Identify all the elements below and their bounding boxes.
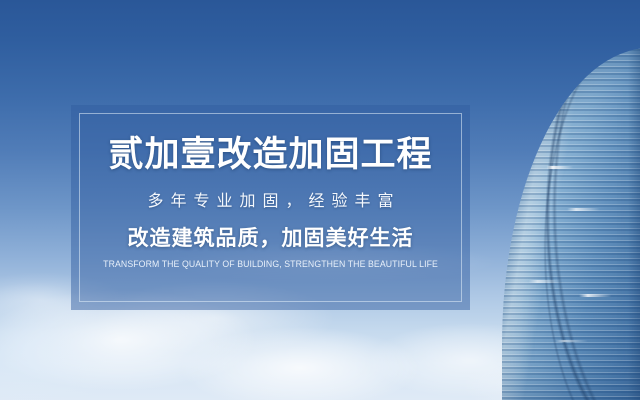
subheadline-text: 多年专业加固，经验丰富 bbox=[140, 194, 400, 210]
tower-window-reflections bbox=[502, 48, 640, 400]
headline-title: 贰加壹改造加固工程 bbox=[108, 137, 432, 172]
tagline-english-text: TRANSFORM THE QUALITY OF BUILDING, STREN… bbox=[103, 260, 438, 269]
promo-banner: 贰加壹改造加固工程 多年专业加固，经验丰富 改造建筑品质，加固美好生活 TRAN… bbox=[0, 0, 640, 400]
panel-content: 贰加壹改造加固工程 多年专业加固，经验丰富 改造建筑品质，加固美好生活 TRAN… bbox=[71, 105, 470, 310]
tower-shadow-edge bbox=[628, 48, 640, 400]
skyscraper-photo bbox=[490, 0, 640, 400]
text-overlay-panel: 贰加壹改造加固工程 多年专业加固，经验丰富 改造建筑品质，加固美好生活 TRAN… bbox=[71, 105, 470, 310]
curved-glass-skyscraper bbox=[502, 48, 640, 400]
tagline-text: 改造建筑品质，加固美好生活 bbox=[128, 228, 414, 249]
